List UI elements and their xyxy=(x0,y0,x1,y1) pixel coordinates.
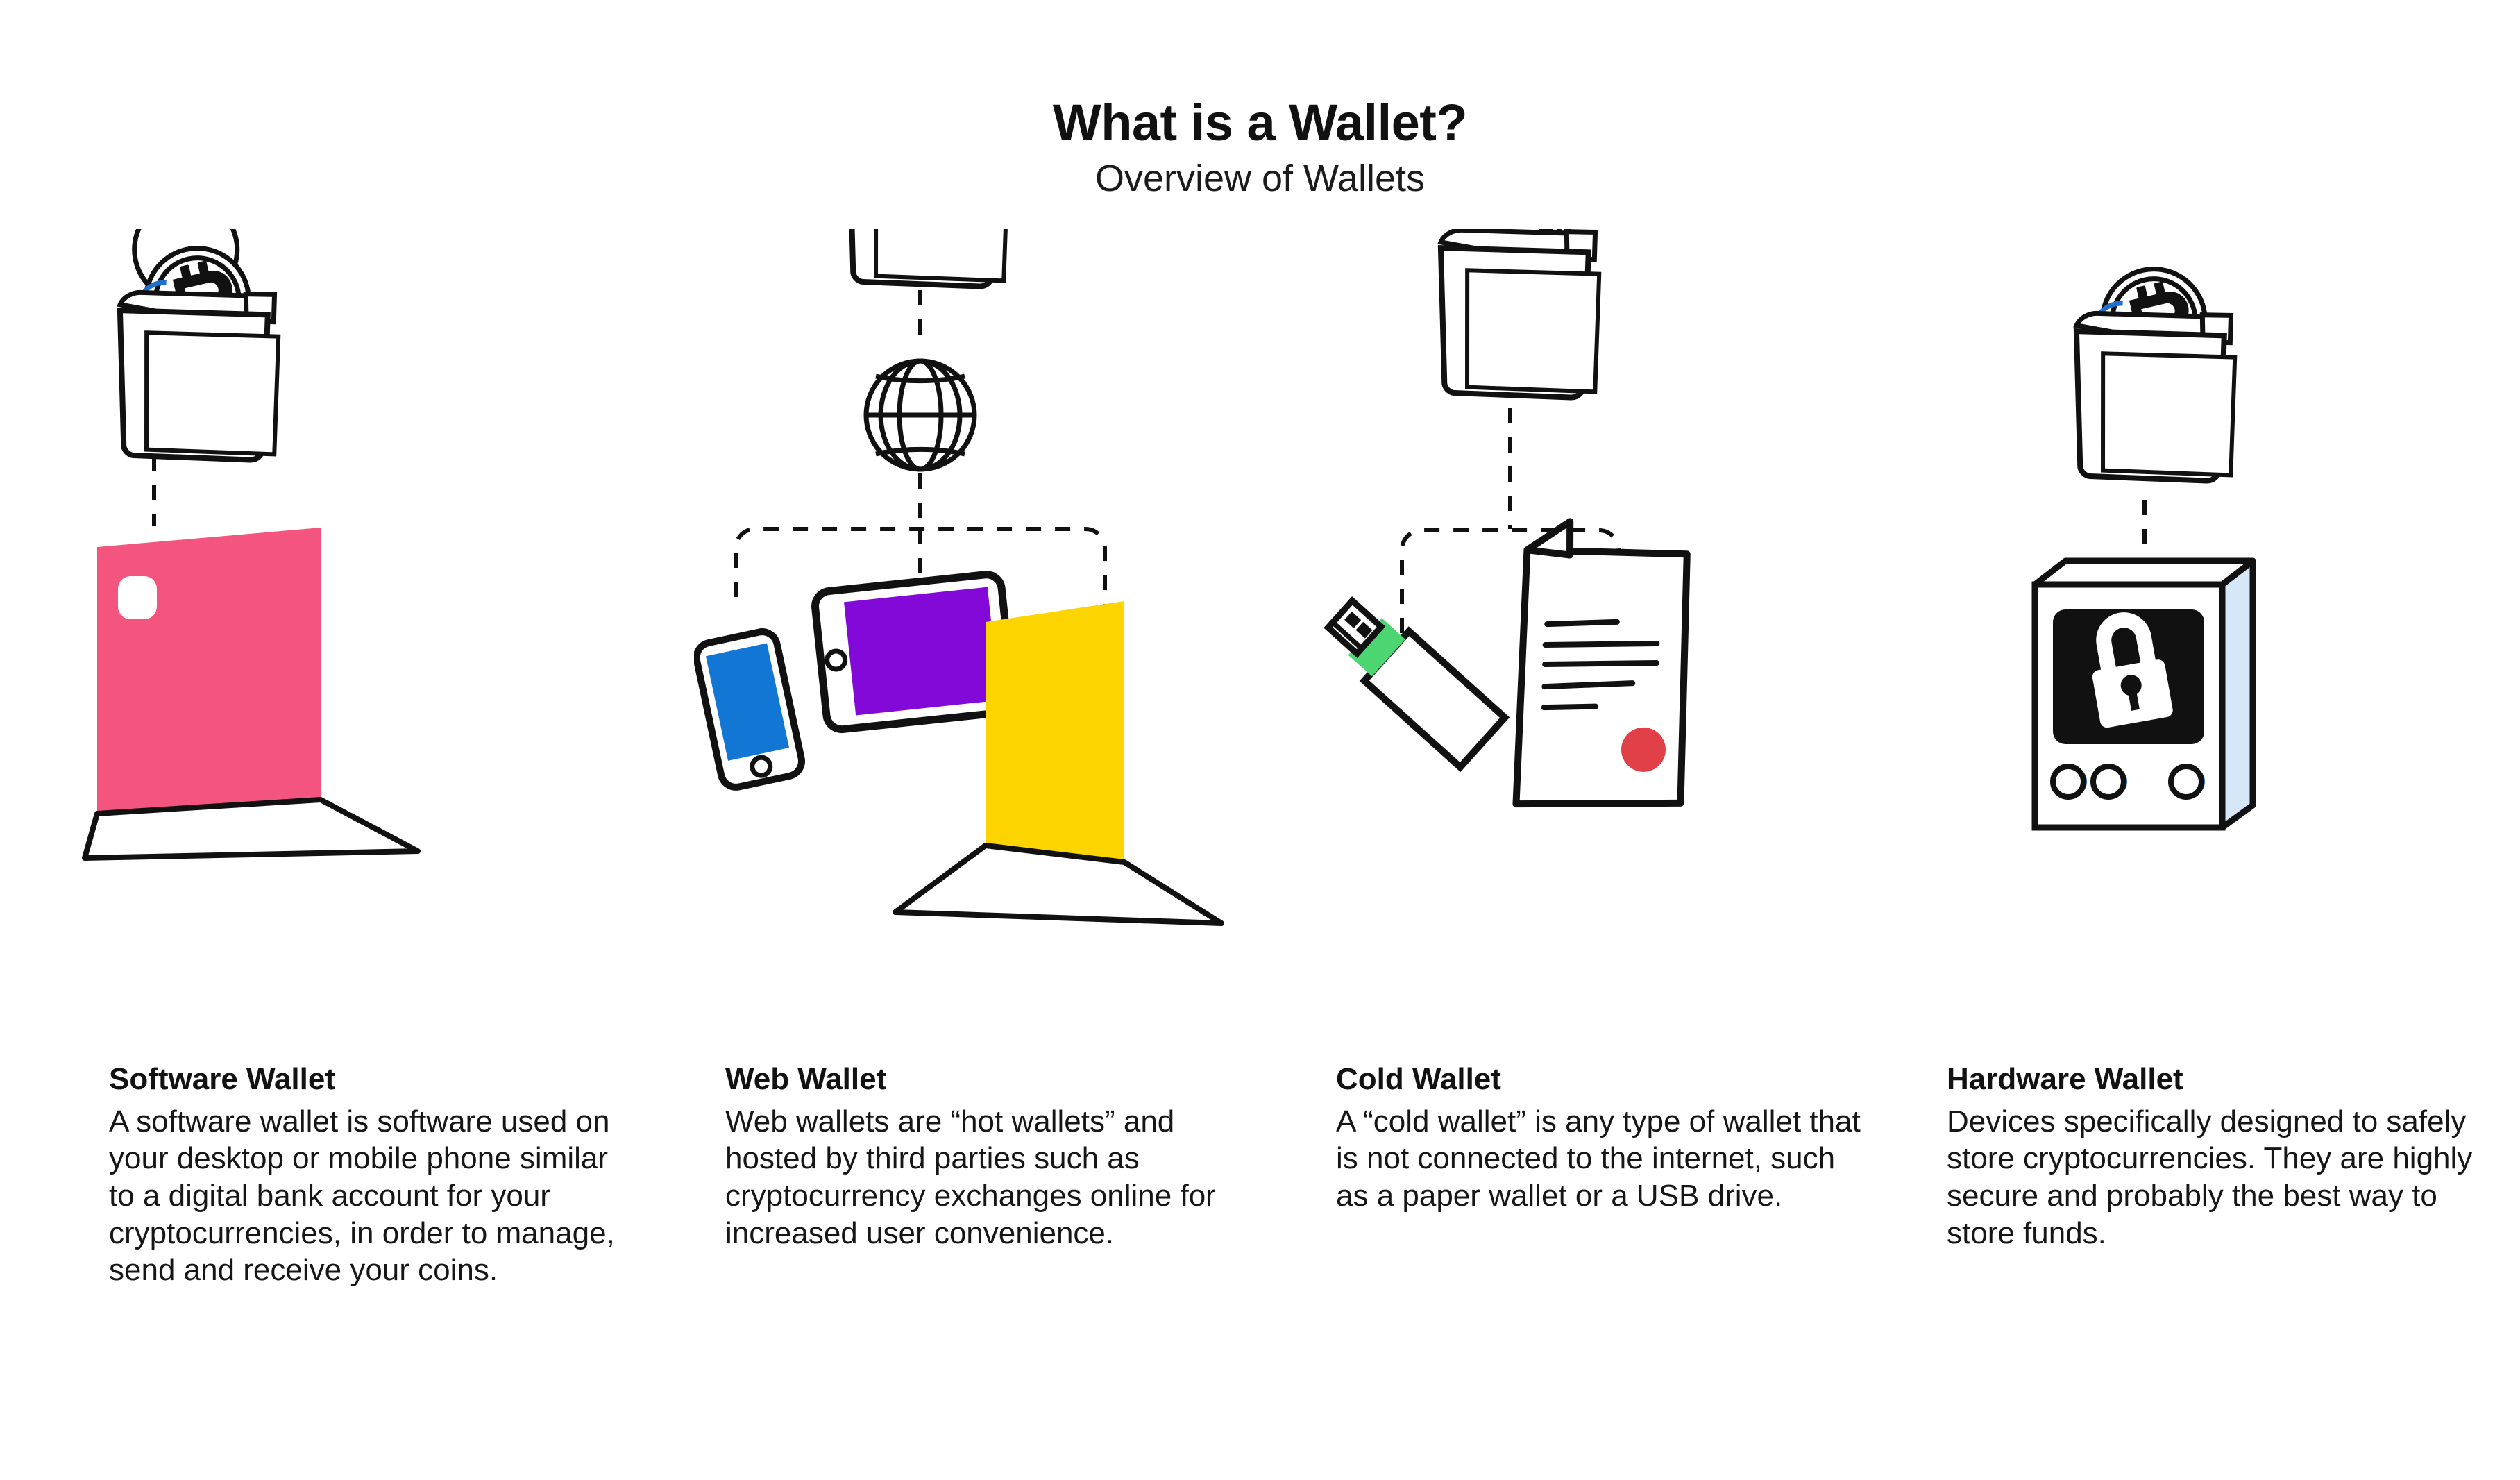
smartphone-icon xyxy=(694,629,804,790)
wallet-columns: Software Wallet A software wallet is sof… xyxy=(0,229,2520,1479)
caption-title: Hardware Wallet xyxy=(1947,1062,2474,1098)
page-header: What is a Wallet? Overview of Wallets xyxy=(0,97,2520,197)
caption-software-wallet: Software Wallet A software wallet is sof… xyxy=(109,1062,636,1289)
globe-icon xyxy=(866,361,974,469)
column-hardware-wallet: Hardware Wallet Devices specifically des… xyxy=(1916,229,2520,1479)
column-web-wallet: Web Wallet Web wallets are “hot wallets”… xyxy=(694,229,1305,1479)
paper-document-icon xyxy=(1505,518,1705,818)
caption-title: Software Wallet xyxy=(109,1062,636,1098)
caption-cold-wallet: Cold Wallet A “cold wallet” is any type … xyxy=(1336,1062,1863,1215)
page-subtitle: Overview of Wallets xyxy=(0,160,2520,197)
bitcoin-wallet-icon xyxy=(1405,229,1630,425)
bitcoin-wallet-icon xyxy=(2040,253,2266,508)
caption-web-wallet: Web Wallet Web wallets are “hot wallets”… xyxy=(725,1062,1253,1252)
laptop-icon xyxy=(85,528,418,858)
usb-drive-icon xyxy=(1318,589,1505,767)
hardware-device-lock-icon xyxy=(2035,561,2253,827)
caption-title: Cold Wallet xyxy=(1336,1062,1863,1098)
hardware-wallet-illustration xyxy=(1916,229,2520,1048)
caption-body: A software wallet is software used on yo… xyxy=(109,1103,636,1289)
web-wallet-illustration xyxy=(694,229,1305,1048)
caption-body: Devices specifically designed to safely … xyxy=(1947,1103,2474,1252)
bitcoin-wallet-icon xyxy=(813,229,1039,314)
software-wallet-illustration xyxy=(78,229,688,1048)
bitcoin-wallet-icon xyxy=(78,229,310,487)
column-cold-wallet: Cold Wallet A “cold wallet” is any type … xyxy=(1305,229,1916,1479)
caption-body: Web wallets are “hot wallets” and hosted… xyxy=(725,1103,1253,1252)
caption-hardware-wallet: Hardware Wallet Devices specifically des… xyxy=(1947,1062,2474,1252)
caption-title: Web Wallet xyxy=(725,1062,1253,1098)
tablet-icon xyxy=(813,573,1014,731)
page-title: What is a Wallet? xyxy=(0,97,2520,149)
cold-wallet-illustration xyxy=(1305,229,1916,1048)
column-software-wallet: Software Wallet A software wallet is sof… xyxy=(78,229,688,1479)
caption-body: A “cold wallet” is any type of wallet th… xyxy=(1336,1103,1863,1215)
